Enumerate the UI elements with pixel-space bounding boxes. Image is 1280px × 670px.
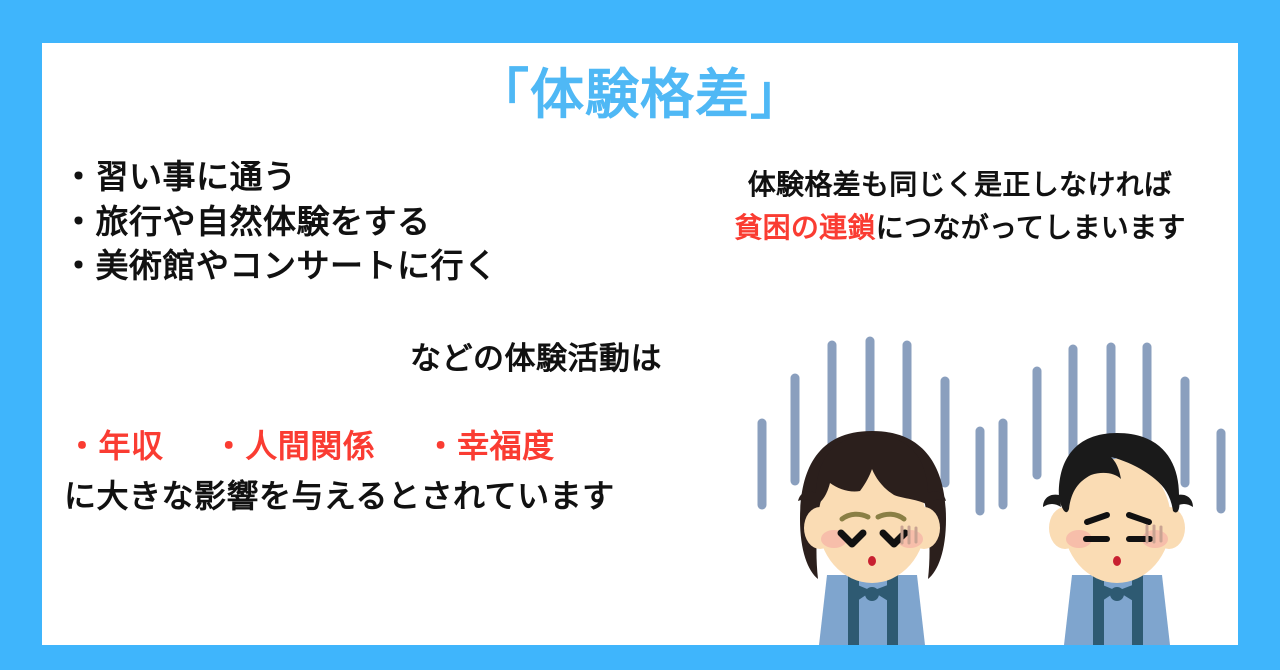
poverty-chain-highlight: 貧困の連鎖 xyxy=(734,211,876,244)
impact-conclusion-text: に大きな影響を与えるとされています xyxy=(64,471,615,517)
list-item: ・美術館やコンサートに行く xyxy=(62,244,702,289)
boy-body xyxy=(1064,575,1170,645)
boy-hair-tuft-right xyxy=(1175,495,1193,507)
experience-bullet-list: ・習い事に通う ・旅行や自然体験をする ・美術館やコンサートに行く xyxy=(62,155,702,289)
impact-item-income: ・年収 xyxy=(66,427,164,465)
page-title: 「体験格差」 xyxy=(42,67,1238,124)
poverty-message-line-1: 体験格差も同じく是正しなければ xyxy=(682,163,1238,206)
impact-factor-list: ・年収 ・人間関係 ・幸福度 xyxy=(66,421,555,467)
list-item: ・習い事に通う xyxy=(62,155,702,200)
list-item: ・旅行や自然体験をする xyxy=(62,200,702,245)
slide-canvas: 「体験格差」 ・習い事に通う ・旅行や自然体験をする ・美術館やコンサートに行く… xyxy=(0,0,1280,670)
impact-item-relationships: ・人間関係 xyxy=(213,427,376,465)
impact-item-happiness: ・幸福度 xyxy=(425,427,555,465)
poverty-chain-message: 体験格差も同じく是正しなければ 貧困の連鎖につながってしまいます xyxy=(682,163,1238,250)
sad-girl-svg xyxy=(742,323,1002,645)
sad-boy-svg xyxy=(987,323,1247,645)
girl-body xyxy=(819,575,925,645)
illustration-group xyxy=(692,323,1238,645)
sad-girl-illustration xyxy=(742,323,1002,645)
slide-white-panel: 「体験格差」 ・習い事に通う ・旅行や自然体験をする ・美術館やコンサートに行く… xyxy=(42,43,1238,645)
girl-mouth xyxy=(868,556,876,566)
experience-summary-text: などの体験活動は xyxy=(62,333,662,378)
poverty-message-line-2: 貧困の連鎖につながってしまいます xyxy=(682,206,1238,249)
boy-mouth xyxy=(1113,556,1121,566)
boy-hair-tuft-left xyxy=(1043,495,1061,507)
sad-boy-illustration xyxy=(987,323,1247,645)
poverty-chain-rest: につながってしまいます xyxy=(876,211,1186,244)
